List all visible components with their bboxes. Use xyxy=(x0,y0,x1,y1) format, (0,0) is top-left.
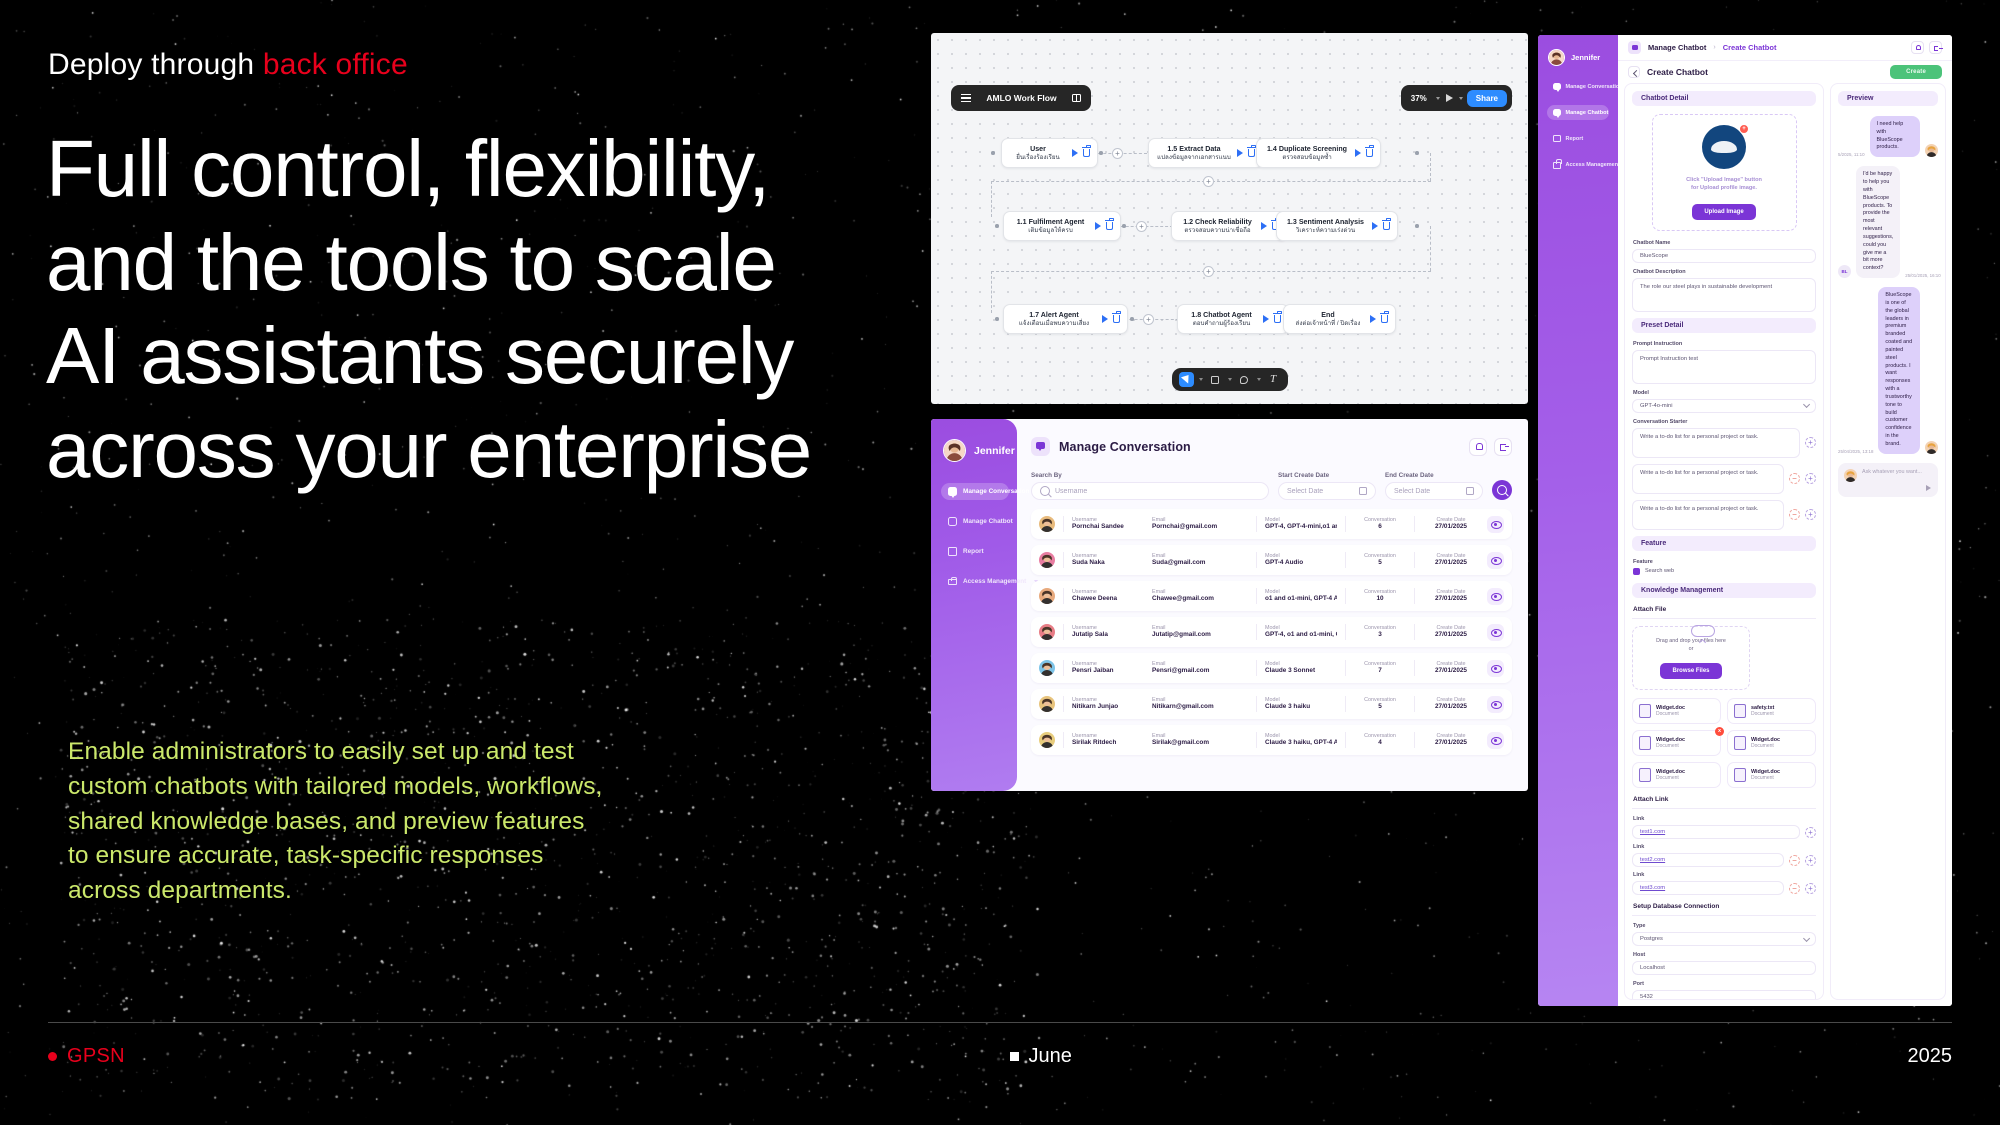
table-row[interactable]: UsernameNitikarn JunjaoEmailNitikarn@gma… xyxy=(1031,689,1512,719)
divider xyxy=(1063,660,1064,676)
slide-subcopy: Enable administrators to easily set up a… xyxy=(68,735,708,909)
link-row: test2.com − + xyxy=(1632,853,1816,867)
sidebar-item-manage-chatbot[interactable]: Manage Chatbot xyxy=(941,513,1009,530)
view-details-button[interactable] xyxy=(1487,516,1504,533)
bot-icon xyxy=(1628,41,1641,54)
avatar xyxy=(1039,624,1055,640)
slide-eyebrow: Deploy through back office xyxy=(48,48,408,82)
subcopy-line-5: across departments. xyxy=(68,874,708,909)
cell-conversation: Conversation5 xyxy=(1354,697,1406,712)
cell-email: EmailNitikarn@gmail.com xyxy=(1152,697,1248,712)
workflow-node[interactable]: 1.3 Sentiment Analysis วิเคราะห์ความเร่ง… xyxy=(1276,211,1398,241)
calendar-icon[interactable] xyxy=(1466,487,1474,495)
run-node-icon[interactable] xyxy=(1095,222,1101,230)
footer: GPSN June 2025 xyxy=(48,1045,1952,1081)
dropzone-line-2: or xyxy=(1689,646,1694,652)
sidebar-item-manage-chatbot[interactable]: Manage Chatbot xyxy=(1547,105,1609,120)
node-subtitle: ตรวจสอบข้อมูลซ้ำ xyxy=(1264,154,1350,161)
prompt-instruction-input[interactable]: Prompt Instruction test xyxy=(1632,350,1816,384)
document-icon xyxy=(1639,736,1651,750)
eyebrow-accent: back office xyxy=(263,48,408,81)
sidebar-user[interactable]: Jennifer xyxy=(1548,49,1600,66)
model-label: Model xyxy=(1633,390,1816,396)
square-bullet-icon xyxy=(1010,1052,1019,1061)
send-icon[interactable] xyxy=(1926,485,1931,491)
footer-brand-label: GPSN xyxy=(67,1045,125,1068)
bot-icon xyxy=(948,517,957,526)
page-title: Create Chatbot xyxy=(1647,67,1708,77)
divider xyxy=(1063,624,1064,640)
add-node-button[interactable]: + xyxy=(1203,176,1214,187)
file-card[interactable]: Widget.docDocument xyxy=(1727,730,1816,756)
cell-email: EmailSirilak@gmail.com xyxy=(1152,733,1248,748)
cell-create-date: Create Date27/01/2025 xyxy=(1423,553,1479,568)
db-port-input[interactable]: 5432 xyxy=(1632,990,1816,1000)
divider xyxy=(1256,624,1257,640)
workflow-node[interactable]: 1.4 Duplicate Screening ตรวจสอบข้อมูลซ้ำ xyxy=(1256,138,1381,168)
cell-email: EmailJutatip@gmail.com xyxy=(1152,625,1248,640)
chatbot-name-input[interactable]: BlueScope xyxy=(1632,249,1816,263)
sidebar-item-label: Manage Chatbot xyxy=(1566,110,1609,116)
avatar xyxy=(1039,732,1055,748)
node-subtitle: ยื่นเรื่องร้องเรียน xyxy=(1009,154,1067,161)
headline-line-4: across your enterprise xyxy=(46,403,916,497)
cell-username: UsernameSuda Naka xyxy=(1072,553,1144,568)
section-knowledge-management: Knowledge Management xyxy=(1632,583,1816,598)
file-card[interactable]: Widget.docDocument xyxy=(1727,762,1816,788)
file-card[interactable]: safety.txtDocument xyxy=(1727,698,1816,724)
run-node-icon[interactable] xyxy=(1102,315,1108,323)
run-node-icon[interactable] xyxy=(1237,149,1243,157)
divider xyxy=(1063,696,1064,712)
workflow-toolbar[interactable]: AMLO Work Flow xyxy=(951,85,1091,111)
db-port-label: Port xyxy=(1633,981,1816,987)
table-row[interactable]: UsernamePornchai SandeeEmailPornchai@gma… xyxy=(1031,509,1512,539)
file-card[interactable]: Widget.docDocument xyxy=(1632,698,1721,724)
divider xyxy=(1414,516,1415,532)
chat-icon xyxy=(1553,83,1561,91)
chatbot-name-label: Chatbot Name xyxy=(1633,240,1816,246)
node-subtitle: วิเคราะห์ความเร่งด่วน xyxy=(1284,227,1367,234)
share-button[interactable]: Share xyxy=(1467,90,1507,107)
avatar xyxy=(1925,441,1938,454)
cell-email: EmailPornchai@gmail.com xyxy=(1152,517,1248,532)
cell-email: EmailChawee@gmail.com xyxy=(1152,589,1248,604)
avatar xyxy=(1039,552,1055,568)
zoom-level[interactable]: 37% xyxy=(1406,91,1432,106)
divider xyxy=(1345,624,1346,640)
model-value: GPT-4o-mini xyxy=(1640,403,1673,409)
feature-label: Feature xyxy=(1633,559,1816,565)
message-timestamp: 25/04/2025, 13:18 xyxy=(1838,449,1873,454)
table-row[interactable]: UsernameJutatip SalaEmailJutatip@gmail.c… xyxy=(1031,617,1512,647)
main-content: Manage Conversation Search By Username S… xyxy=(1017,419,1528,791)
lock-icon xyxy=(1553,162,1561,170)
text-tool-icon[interactable]: T xyxy=(1266,372,1281,387)
cell-create-date: Create Date27/01/2025 xyxy=(1423,661,1479,676)
run-node-icon[interactable] xyxy=(1372,222,1378,230)
chat-message: BL I'd be happy to help you with BlueSco… xyxy=(1838,166,1938,278)
avatar xyxy=(1039,588,1055,604)
footer-brand: GPSN xyxy=(48,1045,125,1068)
cursor-tool-caret-icon[interactable] xyxy=(1199,378,1203,381)
link-row: test1.com + xyxy=(1632,825,1816,839)
present-play-icon[interactable] xyxy=(1446,94,1453,102)
chevron-down-icon xyxy=(1803,934,1810,941)
search-web-label: Search web xyxy=(1645,568,1674,574)
sidebar-item-label: Access Management xyxy=(1566,162,1620,168)
sidebar-item-label: Manage Chatbot xyxy=(963,518,1013,525)
view-details-button[interactable] xyxy=(1487,696,1504,713)
search-caption: Search By xyxy=(1031,472,1269,479)
start-date-input[interactable]: Select Date xyxy=(1278,482,1376,500)
cell-model: ModelGPT-4, o1 and o1-mini, GPT-4 Audio,… xyxy=(1265,625,1337,640)
workflow-canvas-screenshot: AMLO Work Flow 37% Share + + + + + + + +… xyxy=(931,33,1528,404)
chatbot-description-label: Chatbot Description xyxy=(1633,269,1816,275)
calendar-icon[interactable] xyxy=(1359,487,1367,495)
workflow-actions[interactable]: 37% Share xyxy=(1401,85,1512,111)
file-dropzone[interactable]: Drag and drop your files here or Browse … xyxy=(1632,626,1750,690)
panel-toggle-icon[interactable] xyxy=(1072,94,1081,102)
table-row[interactable]: UsernameSuda NakaEmailSuda@gmail.comMode… xyxy=(1031,545,1512,575)
chatbot-logo: + xyxy=(1702,125,1746,169)
sidebar-item-manage-conversation[interactable]: Manage Conversation xyxy=(941,483,1009,500)
circle-bullet-icon xyxy=(48,1052,57,1061)
cell-conversation: Conversation6 xyxy=(1354,517,1406,532)
link-input[interactable]: test1.com xyxy=(1632,825,1800,839)
divider xyxy=(1345,516,1346,532)
node-subtitle: แปลงข้อมูลจากเอกสารแนบ xyxy=(1156,154,1232,161)
add-link-button[interactable]: + xyxy=(1805,855,1816,866)
sidebar-item-report[interactable]: Report xyxy=(941,543,1009,560)
section-preset-detail: Preset Detail xyxy=(1632,318,1816,333)
message-timestamp: 25/01/2025, 16:10 xyxy=(1905,273,1940,278)
divider xyxy=(1256,588,1257,604)
footer-month-label: June xyxy=(1029,1045,1072,1068)
node-subtitle: ตอบคำถามผู้ร้องเรียน xyxy=(1185,320,1258,327)
chevron-down-icon xyxy=(1803,401,1810,408)
cell-model: ModelClaude 3 Sonnet xyxy=(1265,661,1337,676)
file-card[interactable]: Widget.docDocument xyxy=(1632,762,1721,788)
divider xyxy=(1632,808,1816,809)
cell-username: UsernameJutatip Sala xyxy=(1072,625,1144,640)
view-details-button[interactable] xyxy=(1487,732,1504,749)
node-title: 1.4 Duplicate Screening xyxy=(1264,145,1350,153)
composer-placeholder: Ask whatever you want... xyxy=(1862,469,1922,475)
divider xyxy=(1256,552,1257,568)
divider xyxy=(1063,516,1064,532)
footer-divider xyxy=(48,1022,1952,1023)
dropzone-line-1: Drag and drop your files here xyxy=(1656,638,1726,644)
search-placeholder: Username xyxy=(1055,488,1087,495)
delete-node-icon[interactable] xyxy=(1248,149,1255,157)
sidebar-item-manage-conversation[interactable]: Manage Conversation xyxy=(1547,79,1609,94)
cell-model: ModelGPT-4 Audio xyxy=(1265,553,1337,568)
starter-row: Write a to-do list for a personal projec… xyxy=(1632,428,1816,458)
end-date-input[interactable]: Select Date xyxy=(1385,482,1483,500)
node-subtitle: ส่งต่อเจ้าหน้าที่ / ปิดเรื่อง xyxy=(1291,320,1365,327)
browse-files-button[interactable]: Browse Files xyxy=(1660,663,1721,679)
cell-conversation: Conversation5 xyxy=(1354,553,1406,568)
add-link-button[interactable]: + xyxy=(1805,827,1816,838)
end-date-caption: End Create Date xyxy=(1385,472,1483,479)
run-node-icon[interactable] xyxy=(1370,315,1376,323)
chat-bubble-icon xyxy=(1031,437,1050,456)
stamp-tool-icon[interactable] xyxy=(1237,372,1252,387)
divider xyxy=(1345,660,1346,676)
add-node-button[interactable]: + xyxy=(1136,221,1147,232)
back-button[interactable] xyxy=(1628,66,1640,78)
divider xyxy=(1345,552,1346,568)
cell-create-date: Create Date27/01/2025 xyxy=(1423,625,1479,640)
start-date-caption: Start Create Date xyxy=(1278,472,1376,479)
breadcrumb-root[interactable]: Manage Chatbot xyxy=(1648,43,1706,52)
create-button[interactable]: Create xyxy=(1890,65,1942,79)
document-icon xyxy=(1639,768,1651,782)
delete-node-icon[interactable] xyxy=(1106,222,1113,230)
link-input[interactable]: test2.com xyxy=(1632,853,1784,867)
db-host-input[interactable]: Localhost xyxy=(1632,961,1816,975)
add-node-button[interactable]: + xyxy=(1112,148,1123,159)
node-title: 1.8 Chatbot Agent xyxy=(1185,311,1258,319)
notifications-button[interactable] xyxy=(1469,438,1487,456)
document-icon xyxy=(1734,704,1746,718)
add-link-button[interactable]: + xyxy=(1805,883,1816,894)
section-chatbot-detail: Chatbot Detail xyxy=(1632,91,1816,106)
upload-image-button[interactable]: Upload Image xyxy=(1692,204,1755,220)
add-image-badge-icon[interactable]: + xyxy=(1739,124,1749,134)
sidebar: Jennifer Manage Conversation Manage Chat… xyxy=(931,419,1017,791)
start-date-group: Start Create Date Select Date xyxy=(1278,472,1376,500)
cell-email: EmailSuda@gmail.com xyxy=(1152,553,1248,568)
workflow-node[interactable]: 1.8 Chatbot Agent ตอบคำถามผู้ร้องเรียน xyxy=(1177,304,1289,334)
divider xyxy=(1063,552,1064,568)
sidebar: Jennifer Manage Conversation Manage Chat… xyxy=(1538,35,1618,1006)
headline-line-3: AI assistants securely xyxy=(46,309,916,403)
cell-username: UsernamePensri Jaiban xyxy=(1072,661,1144,676)
db-type-select[interactable]: Postgres xyxy=(1632,932,1816,946)
file-card[interactable]: Widget.docDocumentx xyxy=(1632,730,1721,756)
search-icon xyxy=(1497,485,1507,495)
cell-username: UsernameSirilak Ritdech xyxy=(1072,733,1144,748)
starter-input[interactable]: Write a to-do list for a personal projec… xyxy=(1632,500,1784,530)
link-label: Link xyxy=(1633,816,1816,822)
sidebar-item-report[interactable]: Report xyxy=(1547,131,1609,146)
end-date-placeholder: Select Date xyxy=(1394,488,1430,495)
run-node-icon[interactable] xyxy=(1261,222,1267,230)
delete-node-icon[interactable] xyxy=(1383,222,1390,230)
stamp-tool-caret-icon[interactable] xyxy=(1257,378,1261,381)
avatar xyxy=(1039,696,1055,712)
remove-starter-button[interactable]: − xyxy=(1789,473,1800,484)
add-starter-button[interactable]: + xyxy=(1805,509,1816,520)
add-node-button[interactable]: + xyxy=(1203,266,1214,277)
bot-avatar: BL xyxy=(1838,265,1851,278)
chat-message: 5/2025, 11:10 I need help with BlueScope… xyxy=(1838,116,1938,157)
message-text: BlueScope is one of the global leaders i… xyxy=(1878,287,1920,454)
logout-button[interactable] xyxy=(1494,438,1512,456)
db-type-label: Type xyxy=(1633,923,1816,929)
breadcrumb-separator: › xyxy=(1713,44,1715,51)
shape-tool-caret-icon[interactable] xyxy=(1228,378,1232,381)
cell-conversation: Conversation4 xyxy=(1354,733,1406,748)
chatbot-detail-card: Chatbot Detail + Click "Upload Image" bu… xyxy=(1624,83,1824,1000)
conversation-starter-label: Conversation Starter xyxy=(1633,419,1816,425)
sidebar-item-label: Manage Conversation xyxy=(1566,84,1623,90)
link-input[interactable]: test3.com xyxy=(1632,881,1784,895)
message-composer[interactable]: Ask whatever you want... xyxy=(1838,463,1938,497)
delete-node-icon[interactable] xyxy=(1381,315,1388,323)
cursor-tool-icon[interactable] xyxy=(1179,372,1194,387)
sidebar-item-label: Report xyxy=(963,548,984,555)
eyebrow-prefix: Deploy through xyxy=(48,48,263,81)
cell-model: ModelClaude 3 haiku xyxy=(1265,697,1337,712)
divider xyxy=(1345,732,1346,748)
headline-line-2: and the tools to scale xyxy=(46,216,916,310)
node-title: End xyxy=(1291,311,1365,319)
divider xyxy=(1414,552,1415,568)
db-host-label: Host xyxy=(1633,952,1816,958)
node-title: 1.2 Check Reliability xyxy=(1179,218,1256,226)
logout-button[interactable] xyxy=(1929,41,1942,54)
view-details-button[interactable] xyxy=(1487,588,1504,605)
page-subheader: Create Chatbot Create xyxy=(1618,61,1952,83)
cell-conversation: Conversation3 xyxy=(1354,625,1406,640)
search-web-checkbox[interactable]: Search web xyxy=(1633,568,1816,575)
divider xyxy=(1256,696,1257,712)
add-starter-button[interactable]: + xyxy=(1805,473,1816,484)
node-title: 1.3 Sentiment Analysis xyxy=(1284,218,1367,226)
divider xyxy=(1345,588,1346,604)
cell-email: EmailPensri@gmail.com xyxy=(1152,661,1248,676)
bluescope-wave-icon xyxy=(1711,141,1737,153)
preview-card: Preview 5/2025, 11:10 I need help with B… xyxy=(1830,83,1946,1000)
workflow-node[interactable]: 1.5 Extract Data แปลงข้อมูลจากเอกสารแนบ xyxy=(1148,138,1263,168)
workflow-node[interactable]: 1.1 Fulfilment Agent เติมข้อมูลให้ครบ xyxy=(1003,211,1121,241)
run-node-icon[interactable] xyxy=(1263,315,1269,323)
add-node-button[interactable]: + xyxy=(1143,314,1154,325)
bot-icon xyxy=(1553,109,1561,117)
cell-username: UsernameChawee Deena xyxy=(1072,589,1144,604)
chevron-down-icon-2[interactable] xyxy=(1459,97,1463,100)
db-type-value: Postgres xyxy=(1640,936,1663,942)
link-label: Link xyxy=(1633,844,1816,850)
menu-icon[interactable] xyxy=(961,94,971,102)
link-label: Link xyxy=(1633,872,1816,878)
link-row: test3.com − + xyxy=(1632,881,1816,895)
divider xyxy=(1414,696,1415,712)
shape-tool-icon[interactable] xyxy=(1208,372,1223,387)
workflow-node[interactable]: 1.2 Check Reliability ตรวจสอบความน่าเชื่… xyxy=(1171,211,1287,241)
view-details-button[interactable] xyxy=(1487,660,1504,677)
cell-create-date: Create Date27/01/2025 xyxy=(1423,589,1479,604)
model-select[interactable]: GPT-4o-mini xyxy=(1632,399,1816,413)
node-title: 1.7 Alert Agent xyxy=(1011,311,1097,319)
avatar xyxy=(1925,144,1938,157)
avatar xyxy=(1039,660,1055,676)
breadcrumb-bar: Manage Chatbot › Create Chatbot xyxy=(1618,35,1952,61)
workflow-node[interactable]: User ยื่นเรื่องร้องเรียน xyxy=(1001,138,1098,168)
table-row[interactable]: UsernamePensri JaibanEmailPensri@gmail.c… xyxy=(1031,653,1512,683)
notifications-button[interactable] xyxy=(1911,41,1924,54)
delete-node-icon[interactable] xyxy=(1113,315,1120,323)
start-date-placeholder: Select Date xyxy=(1287,488,1323,495)
table-row[interactable]: UsernameChawee DeenaEmailChawee@gmail.co… xyxy=(1031,581,1512,611)
add-starter-button[interactable]: + xyxy=(1805,437,1816,448)
remove-link-button[interactable]: − xyxy=(1789,883,1800,894)
run-node-icon[interactable] xyxy=(1355,149,1361,157)
divider xyxy=(1632,915,1816,916)
starter-input[interactable]: Write a to-do list for a personal projec… xyxy=(1632,428,1800,458)
cell-model: Modelo1 and o1-mini, GPT-4 Audio xyxy=(1265,589,1337,604)
delete-node-icon[interactable] xyxy=(1083,149,1090,157)
remove-starter-button[interactable]: − xyxy=(1789,509,1800,520)
divider xyxy=(1256,732,1257,748)
delete-node-icon[interactable] xyxy=(1366,149,1373,157)
upload-caption-1: Click "Upload Image" button xyxy=(1686,177,1762,183)
divider xyxy=(1414,660,1415,676)
file-type: Document xyxy=(1656,775,1685,781)
workflow-node[interactable]: End ส่งต่อเจ้าหน้าที่ / ปิดเรื่อง xyxy=(1283,304,1396,334)
avatar xyxy=(1548,49,1565,66)
section-preview: Preview xyxy=(1838,91,1938,106)
sidebar-user[interactable]: Jennifer xyxy=(943,439,1015,462)
search-input[interactable]: Username xyxy=(1031,482,1269,500)
remove-link-button[interactable]: − xyxy=(1789,855,1800,866)
document-icon xyxy=(1639,704,1651,718)
divider xyxy=(1414,624,1415,640)
divider xyxy=(1063,732,1064,748)
view-details-button[interactable] xyxy=(1487,624,1504,641)
delete-node-icon[interactable] xyxy=(1274,315,1281,323)
subcopy-line-4: to ensure accurate, task-specific respon… xyxy=(68,839,708,874)
create-chatbot-screenshot: Jennifer Manage Conversation Manage Chat… xyxy=(1538,35,1952,1006)
cell-username: UsernamePornchai Sandee xyxy=(1072,517,1144,532)
filter-bar: Search By Username Start Create Date Sel… xyxy=(1031,472,1512,500)
form-columns: Chatbot Detail + Click "Upload Image" bu… xyxy=(1618,83,1952,1006)
avatar xyxy=(1844,469,1857,482)
divider xyxy=(1256,516,1257,532)
message-timestamp: 5/2025, 11:10 xyxy=(1838,152,1865,157)
document-icon xyxy=(1734,768,1746,782)
file-type: Document xyxy=(1751,711,1774,717)
search-submit-button[interactable] xyxy=(1492,480,1512,500)
headline-line-1: Full control, flexibility, xyxy=(46,122,916,216)
sidebar-item-access-management[interactable]: Access Management xyxy=(1547,157,1619,172)
section-feature: Feature xyxy=(1632,536,1816,551)
table-row[interactable]: UsernameSirilak RitdechEmailSirilak@gmai… xyxy=(1031,725,1512,755)
profile-image-uploader[interactable]: + Click "Upload Image" button for Upload… xyxy=(1652,114,1797,231)
cell-create-date: Create Date27/01/2025 xyxy=(1423,697,1479,712)
view-details-button[interactable] xyxy=(1487,552,1504,569)
avatar xyxy=(943,439,966,462)
cell-create-date: Create Date27/01/2025 xyxy=(1423,517,1479,532)
run-node-icon[interactable] xyxy=(1072,149,1078,157)
remove-file-badge-icon[interactable]: x xyxy=(1715,727,1724,736)
page-header: Manage Conversation xyxy=(1031,437,1512,456)
cell-create-date: Create Date27/01/2025 xyxy=(1423,733,1479,748)
starter-input[interactable]: Write a to-do list for a personal projec… xyxy=(1632,464,1784,494)
workflow-tool-palette[interactable]: T xyxy=(1172,368,1288,391)
sidebar-item-access-management[interactable]: Access Management xyxy=(941,573,1017,590)
search-icon xyxy=(1040,486,1050,496)
chatbot-description-input[interactable]: The role our steel plays in sustainable … xyxy=(1632,278,1816,312)
divider xyxy=(1063,588,1064,604)
chevron-down-icon[interactable] xyxy=(1436,97,1440,100)
chat-icon xyxy=(948,487,957,496)
workflow-node[interactable]: 1.7 Alert Agent แจ้งเตือนเมื่อพบความเสี่… xyxy=(1003,304,1128,334)
avatar xyxy=(1039,516,1055,532)
